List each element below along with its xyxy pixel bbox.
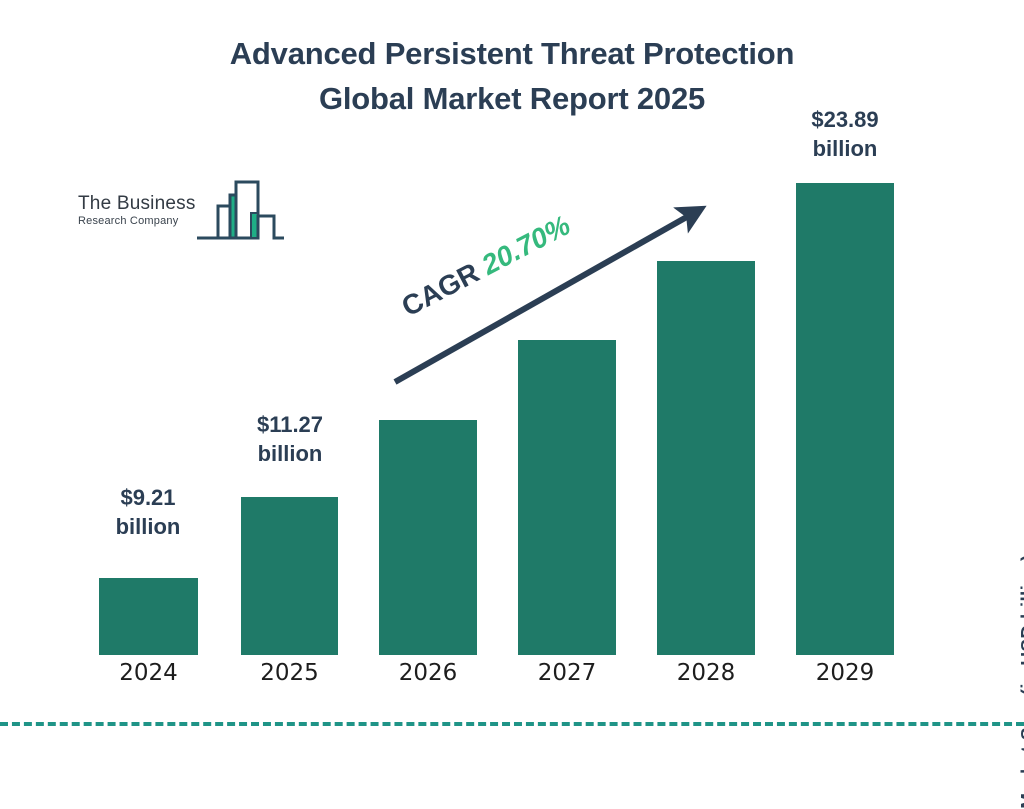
bar-value-amount-2024: $9.21	[88, 483, 208, 512]
bar-value-amount-2029: $23.89	[783, 105, 907, 134]
chart-canvas: Advanced Persistent Threat Protection Gl…	[0, 0, 1024, 768]
bar-2028[interactable]	[657, 261, 755, 655]
x-tick-2029: 2029	[796, 660, 894, 686]
bar-2026[interactable]	[379, 420, 477, 655]
bar-2029[interactable]	[796, 183, 894, 655]
bar-value-label-2029: $23.89 billion	[783, 105, 907, 163]
x-tick-2027: 2027	[518, 660, 616, 686]
footer-divider	[0, 722, 1024, 726]
x-tick-2024: 2024	[99, 660, 198, 686]
bar-value-label-2025: $11.27 billion	[229, 410, 351, 468]
plot-area: $9.21 billion 2024 $11.27 billion 2025 2…	[0, 0, 1024, 768]
bar-value-amount-2025: $11.27	[229, 410, 351, 439]
bar-2025[interactable]	[241, 497, 338, 655]
bar-value-unit-2029: billion	[783, 134, 907, 163]
x-tick-2026: 2026	[379, 660, 477, 686]
x-tick-2028: 2028	[657, 660, 755, 686]
bar-2024[interactable]	[99, 578, 198, 655]
bar-value-unit-2024: billion	[88, 512, 208, 541]
x-tick-2025: 2025	[241, 660, 338, 686]
y-axis-title: Market Size (in USD billion)	[1018, 554, 1024, 808]
bar-value-label-2024: $9.21 billion	[88, 483, 208, 541]
bar-2027[interactable]	[518, 340, 616, 655]
bar-value-unit-2025: billion	[229, 439, 351, 468]
